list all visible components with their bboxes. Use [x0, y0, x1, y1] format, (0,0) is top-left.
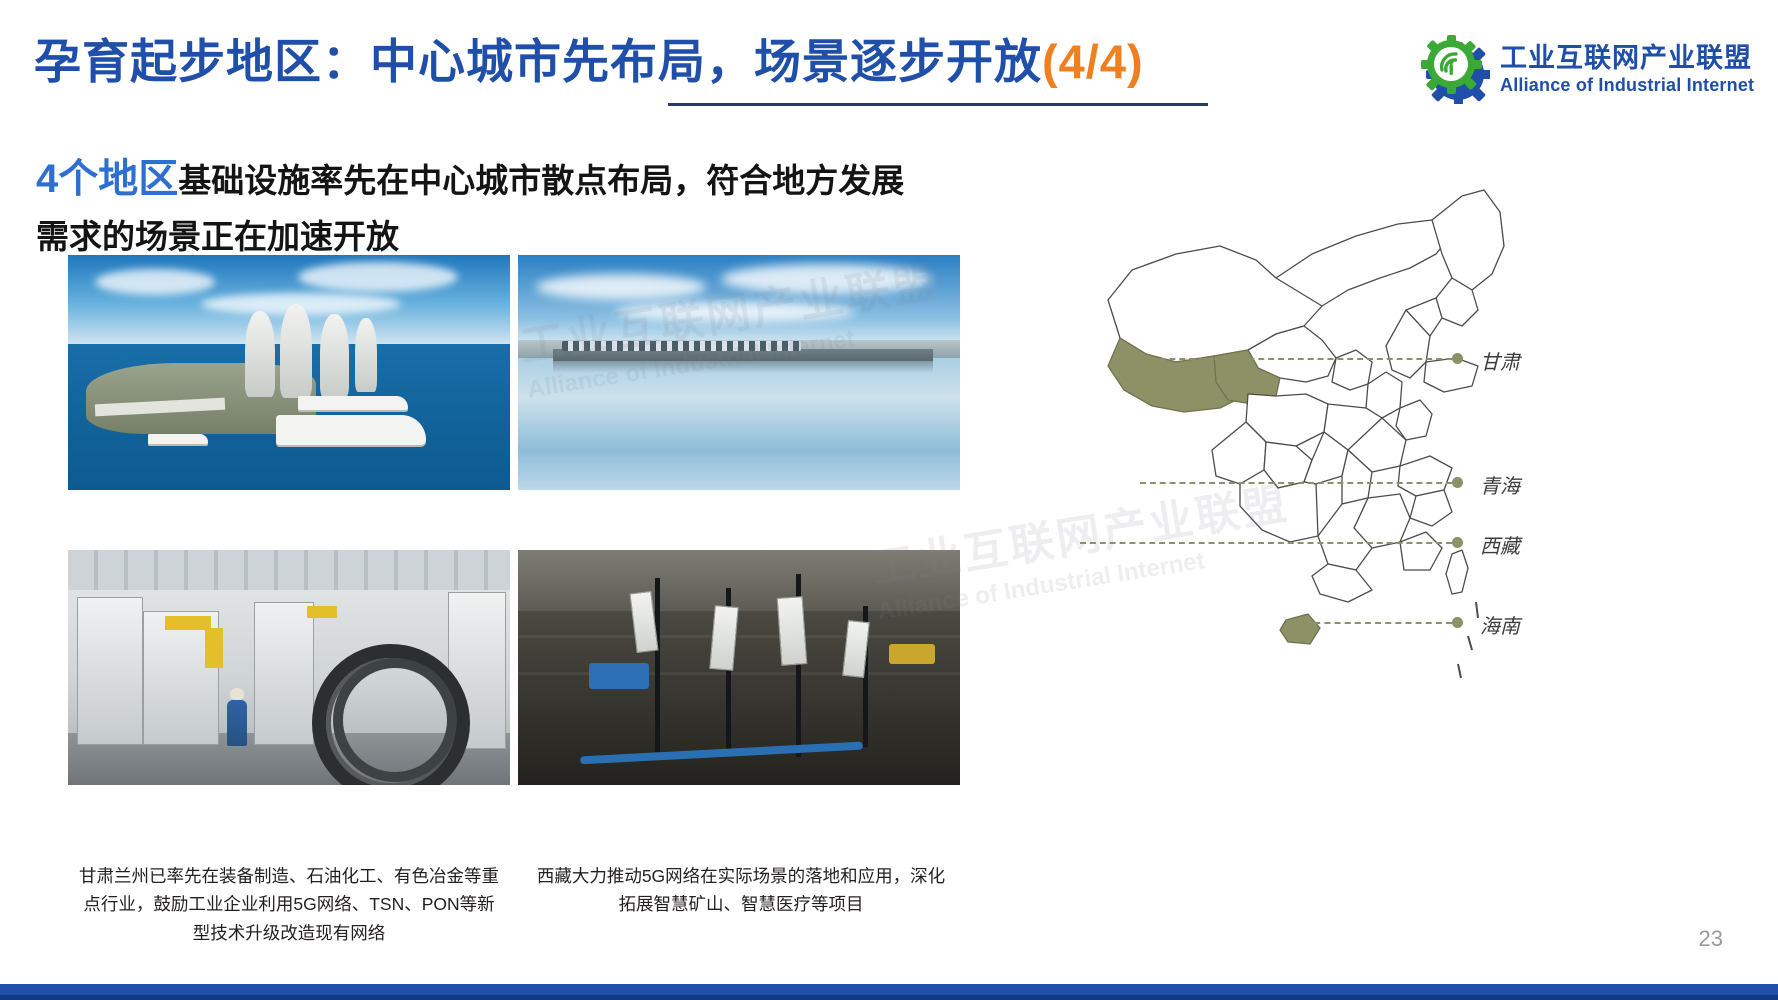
photo-machine [254, 602, 314, 745]
subtitle-line-2: 需求的场景正在加速开放 [36, 210, 399, 258]
photo-bench-line [518, 635, 960, 638]
gansu-photo-caption: 甘肃兰州已率先在装备制造、石油化工、有色冶金等重 点行业，鼓励工业企业利用5G网… [44, 862, 534, 947]
china-map [1080, 150, 1540, 710]
photo-salt-lake [518, 358, 960, 490]
caption-line: 拓展智慧矿山、智慧医疗等项目 [506, 890, 976, 918]
tibet-photo-caption: 西藏大力推动5G网络在实际场景的落地和应用，深化 拓展智慧矿山、智慧医疗等项目 [506, 862, 976, 919]
photo-cruise-ship [276, 415, 426, 445]
footer-bar [0, 984, 1778, 1000]
tibet-mine-photo [518, 550, 960, 785]
logo-name-en: Alliance of Industrial Internet [1500, 76, 1754, 94]
page-title-main: 孕育起步地区：中心城市先布局，场景逐步开放 [34, 35, 1042, 88]
photo-bench-line [518, 672, 960, 675]
title-underline-rule [668, 103, 1208, 106]
photo-yellow-fixture [205, 628, 223, 668]
photo-cloud [536, 274, 706, 300]
caption-line: 西藏大力推动5G网络在实际场景的落地和应用，深化 [506, 862, 976, 890]
photo-hotel-tower [320, 314, 349, 398]
photo-train [562, 341, 801, 352]
aii-logo: 工业互联网产业联盟 Alliance of Industrial Interne… [1420, 34, 1760, 104]
photo-5g-panel [776, 596, 807, 666]
page-title-fraction: (4/4) [1042, 35, 1144, 88]
photo-hotel-tower [280, 304, 312, 398]
caption-line: 型技术升级改造现有网络 [44, 919, 534, 947]
logo-name-cn: 工业互联网产业联盟 [1500, 45, 1754, 72]
photo-cruise-ship [298, 396, 408, 410]
gear-wifi-icon [1420, 34, 1490, 104]
photo-cloud [95, 269, 215, 295]
photo-worker [227, 700, 247, 746]
photo-boat [148, 434, 208, 444]
caption-line: 甘肃兰州已率先在装备制造、石油化工、有色冶金等重 [44, 862, 534, 890]
subtitle-line-1: 4个地区基础设施率先在中心城市散点布局，符合地方发展 [36, 146, 904, 204]
hainan-coast-photo [68, 255, 510, 490]
photo-factory-roof [68, 550, 510, 590]
page-title: 孕育起步地区：中心城市先布局，场景逐步开放(4/4) [34, 36, 1144, 88]
subtitle-line1-rest: 基础设施率先在中心城市散点布局，符合地方发展 [178, 162, 904, 199]
photo-antenna-mast [655, 578, 660, 752]
subtitle-highlight: 4个地区 [36, 157, 178, 201]
page-number: 23 [1699, 926, 1723, 952]
photo-hotel-tower [355, 318, 377, 392]
qinghai-saltlake-photo [518, 255, 960, 490]
photo-yellow-fixture [307, 606, 337, 618]
photo-reflection [553, 361, 933, 373]
logo-text-block: 工业互联网产业联盟 Alliance of Industrial Interne… [1500, 45, 1754, 94]
gansu-factory-photo [68, 550, 510, 785]
photo-excavator [589, 663, 649, 689]
photo-haul-truck [889, 644, 935, 664]
caption-line: 点行业，鼓励工业企业利用5G网络、TSN、PON等新 [44, 890, 534, 918]
slide-root: 孕育起步地区：中心城市先布局，场景逐步开放(4/4) [0, 0, 1778, 1000]
photo-cloud [298, 262, 458, 292]
photo-far-slope [518, 550, 960, 611]
photo-hotel-tower [245, 311, 275, 397]
photo-steel-ring [333, 658, 457, 782]
photo-machine [77, 597, 143, 745]
photo-cloud [615, 302, 855, 322]
